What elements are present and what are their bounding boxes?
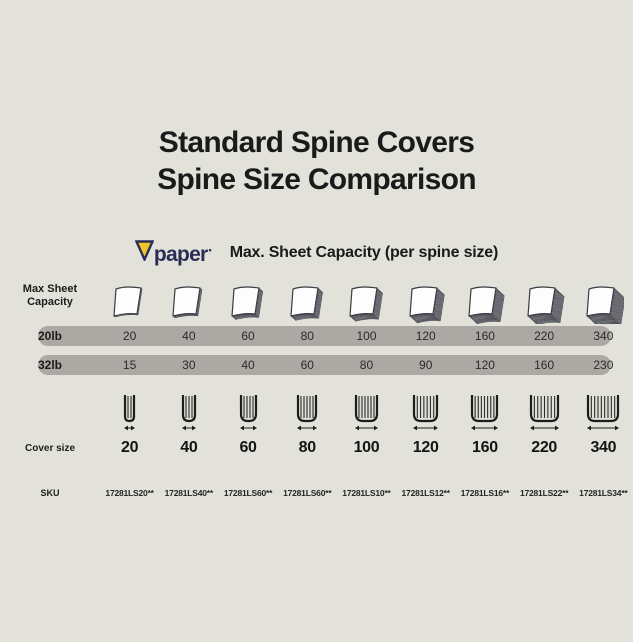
- sheet-stack-icon: [100, 272, 159, 324]
- sku-value: 17281LS40**: [159, 488, 218, 498]
- sku-label: SKU: [0, 487, 100, 500]
- sheet-stack-icon: [159, 272, 218, 324]
- spine-cross-section-icon: [396, 387, 455, 433]
- spine-comparison-table: Max Sheet Capacity 20lb 2040608010012016…: [0, 272, 633, 507]
- capacity-value-32lb: 30: [159, 358, 218, 372]
- sheet-stack-icon: [278, 272, 337, 324]
- sheet-stack-icon: [337, 272, 396, 324]
- max-sheet-capacity-label-line2: Capacity: [0, 296, 100, 309]
- cover-size-value: 120: [396, 439, 455, 457]
- sku-value: 17281LS16**: [455, 488, 514, 498]
- capacity-value-20lb: 60: [218, 329, 277, 343]
- spine-cross-section-icon: [218, 387, 277, 433]
- capacity-value-32lb: 120: [455, 358, 514, 372]
- sku-value: 17281LS60**: [278, 488, 337, 498]
- capacity-value-20lb: 220: [515, 329, 574, 343]
- logo-v-icon: [135, 240, 154, 261]
- cover-size-value: 80: [278, 439, 337, 457]
- capacity-value-32lb: 160: [515, 358, 574, 372]
- cover-size-value: 40: [159, 439, 218, 457]
- capacity-value-32lb: 60: [278, 358, 337, 372]
- capacity-row-32lb: 32lb 153040608090120160230: [0, 355, 633, 375]
- cover-size-value: 20: [100, 439, 159, 457]
- capacity-value-32lb: 80: [337, 358, 396, 372]
- cover-size-value: 160: [455, 439, 514, 457]
- spine-cross-section-icon: [515, 387, 574, 433]
- logo-wordmark: paper: [154, 244, 208, 265]
- sku-value: 17281LS60**: [218, 488, 277, 498]
- capacity-value-20lb: 160: [455, 329, 514, 343]
- cover-size-label: Cover size: [0, 442, 100, 455]
- spine-cross-section-icon: [574, 387, 633, 433]
- sheet-stack-icon: [218, 272, 277, 324]
- cover-size-row: Cover size 20406080100120160220340: [0, 435, 633, 461]
- capacity-value-20lb: 120: [396, 329, 455, 343]
- title-line-1: Standard Spine Covers: [0, 124, 633, 161]
- title-line-2: Spine Size Comparison: [0, 161, 633, 198]
- capacity-value-20lb: 20: [100, 329, 159, 343]
- subtitle: Max. Sheet Capacity (per spine size): [230, 244, 498, 262]
- capacity-value-20lb: 340: [574, 329, 633, 343]
- sku-value: 17281LS10**: [337, 488, 396, 498]
- capacity-value-20lb: 40: [159, 329, 218, 343]
- spine-cross-section-icon: [455, 387, 514, 433]
- page-title: Standard Spine Covers Spine Size Compari…: [0, 124, 633, 198]
- sheet-stack-icon: [455, 272, 514, 324]
- capacity-value-20lb: 100: [337, 329, 396, 343]
- sheet-stack-icon: [574, 272, 633, 324]
- spine-cross-section-icon: [100, 387, 159, 433]
- sheet-icon-row: Max Sheet Capacity: [0, 272, 633, 324]
- cover-size-value: 100: [337, 439, 396, 457]
- sheet-stack-icon: [396, 272, 455, 324]
- logo-trademark: •: [209, 246, 212, 255]
- spine-cross-section-icon: [337, 387, 396, 433]
- capacity-row-20lb: 20lb 20406080100120160220340: [0, 326, 633, 346]
- sku-row: SKU 17281LS20**17281LS40**17281LS60**172…: [0, 479, 633, 507]
- brand-row: paper • Max. Sheet Capacity (per spine s…: [0, 240, 633, 265]
- cover-size-value: 340: [574, 439, 633, 457]
- sheet-stack-icon: [515, 272, 574, 324]
- sku-value: 17281LS20**: [100, 488, 159, 498]
- spine-cross-section-icon: [278, 387, 337, 433]
- sku-value: 17281LS22**: [515, 488, 574, 498]
- capacity-value-32lb: 90: [396, 358, 455, 372]
- capacity-value-32lb: 40: [218, 358, 277, 372]
- row-label-20lb: 20lb: [0, 329, 100, 343]
- cover-size-value: 60: [218, 439, 277, 457]
- spine-icon-row: [0, 387, 633, 433]
- sku-value: 17281LS12**: [396, 488, 455, 498]
- max-sheet-capacity-label: Max Sheet Capacity: [0, 283, 100, 313]
- capacity-value-32lb: 15: [100, 358, 159, 372]
- row-label-32lb: 32lb: [0, 358, 100, 372]
- vpaper-logo: paper •: [135, 240, 212, 265]
- spine-cross-section-icon: [159, 387, 218, 433]
- capacity-value-20lb: 80: [278, 329, 337, 343]
- cover-size-value: 220: [515, 439, 574, 457]
- sku-value: 17281LS34**: [574, 488, 633, 498]
- max-sheet-capacity-label-line1: Max Sheet: [0, 283, 100, 296]
- capacity-value-32lb: 230: [574, 358, 633, 372]
